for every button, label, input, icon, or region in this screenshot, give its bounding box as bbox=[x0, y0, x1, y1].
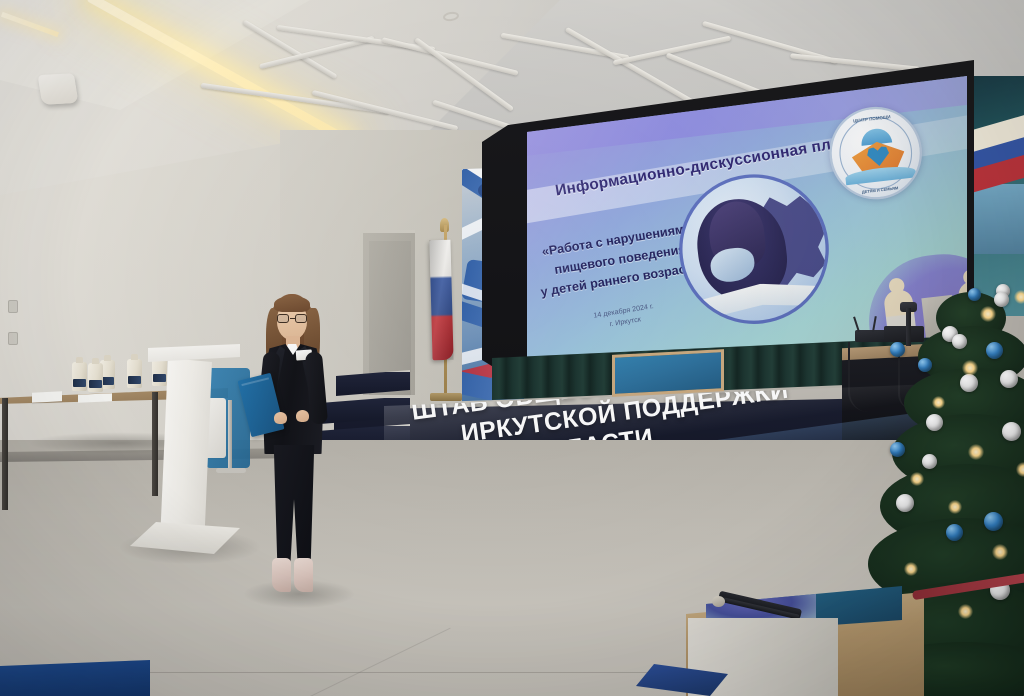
product-label bbox=[128, 376, 141, 384]
slide-date-block: 14 декабря 2024 г. г. Иркутск bbox=[536, 292, 713, 342]
info-card bbox=[32, 391, 62, 403]
tree-light bbox=[962, 360, 978, 376]
tree-light bbox=[958, 604, 973, 619]
product-label bbox=[153, 374, 166, 382]
tripod-knob bbox=[712, 596, 725, 607]
presenter-boot bbox=[272, 558, 291, 592]
wall-socket bbox=[8, 332, 18, 345]
tree-ornament bbox=[946, 524, 963, 541]
tree-light bbox=[948, 500, 962, 514]
tree-light bbox=[992, 544, 1008, 560]
product-item bbox=[88, 363, 103, 392]
tree-light bbox=[932, 396, 945, 409]
product-label bbox=[89, 380, 102, 388]
framed-picture bbox=[612, 349, 724, 397]
tree-light bbox=[980, 306, 996, 322]
tree-ornament bbox=[986, 342, 1003, 359]
product-item bbox=[72, 362, 87, 391]
tree-light bbox=[904, 562, 918, 576]
tree-ornament bbox=[918, 358, 932, 372]
tree-light bbox=[910, 472, 924, 486]
tree-ornament bbox=[960, 374, 978, 392]
tree-ornament bbox=[968, 288, 981, 301]
tree-ornament bbox=[984, 512, 1003, 531]
flag-fold-shading bbox=[429, 240, 453, 361]
tree-ornament bbox=[922, 454, 937, 469]
lectern-column bbox=[160, 358, 212, 548]
tree-ornament bbox=[896, 494, 914, 512]
tree-ornament bbox=[1000, 370, 1018, 388]
tree-light bbox=[1016, 462, 1024, 477]
cart-pole bbox=[228, 400, 232, 472]
glasses-lens bbox=[277, 314, 289, 323]
tree-ornament bbox=[952, 334, 967, 349]
wall-socket bbox=[8, 300, 18, 313]
tree-ornament bbox=[1002, 422, 1021, 441]
tree-ornament bbox=[890, 442, 905, 457]
table-leg bbox=[2, 398, 8, 510]
glasses-icon bbox=[277, 314, 307, 323]
stage-step bbox=[336, 370, 410, 396]
tree-ornament bbox=[926, 414, 943, 431]
cart-foot bbox=[216, 468, 246, 473]
tree-light bbox=[1014, 290, 1024, 304]
presenter bbox=[246, 290, 342, 602]
paper-sheet bbox=[78, 393, 112, 402]
product-label bbox=[73, 379, 86, 387]
presenter-fringe bbox=[274, 296, 310, 312]
tree-ornament bbox=[994, 292, 1009, 307]
tree-light bbox=[968, 444, 984, 460]
product-item bbox=[127, 359, 142, 388]
presenter-boot bbox=[294, 558, 313, 592]
russian-flag bbox=[429, 240, 453, 361]
table-leg bbox=[152, 392, 158, 496]
presenter-hand bbox=[274, 412, 287, 424]
flag-stand bbox=[430, 393, 462, 401]
floor-blue-strip bbox=[0, 660, 150, 696]
wall-speaker bbox=[38, 73, 79, 105]
tree-ornament bbox=[890, 342, 905, 357]
glasses-lens bbox=[295, 314, 307, 323]
presenter-hand bbox=[296, 410, 309, 422]
presenter-trousers bbox=[272, 445, 316, 563]
photo-scene: МИНИСТЕРСТВО СОЦИАЛЬНОГО РАЗВИТИЯ, ОПЕКИ… bbox=[0, 0, 1024, 696]
